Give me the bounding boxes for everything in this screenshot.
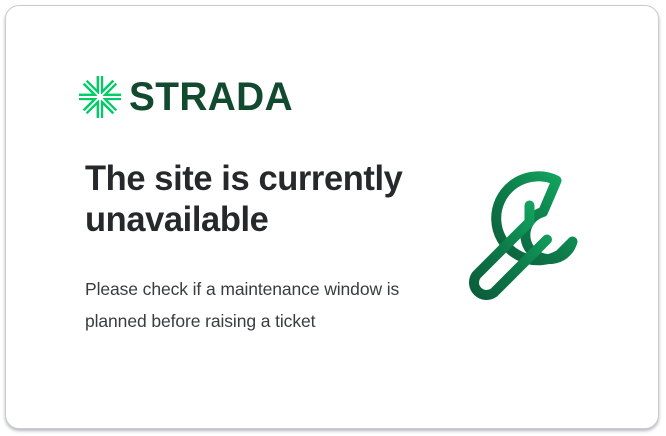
wrench-icon — [459, 161, 621, 321]
page-description: Please check if a maintenance window is … — [85, 241, 425, 337]
strada-star-icon — [79, 76, 121, 118]
brand-lockup: STRADA — [79, 76, 298, 118]
page-title: The site is currently unavailable — [85, 158, 420, 241]
message-block: The site is currently unavailable Please… — [85, 158, 425, 337]
status-card: STRADA The site is currently unavailable… — [5, 5, 659, 429]
brand-wordmark: STRADA — [129, 77, 293, 117]
